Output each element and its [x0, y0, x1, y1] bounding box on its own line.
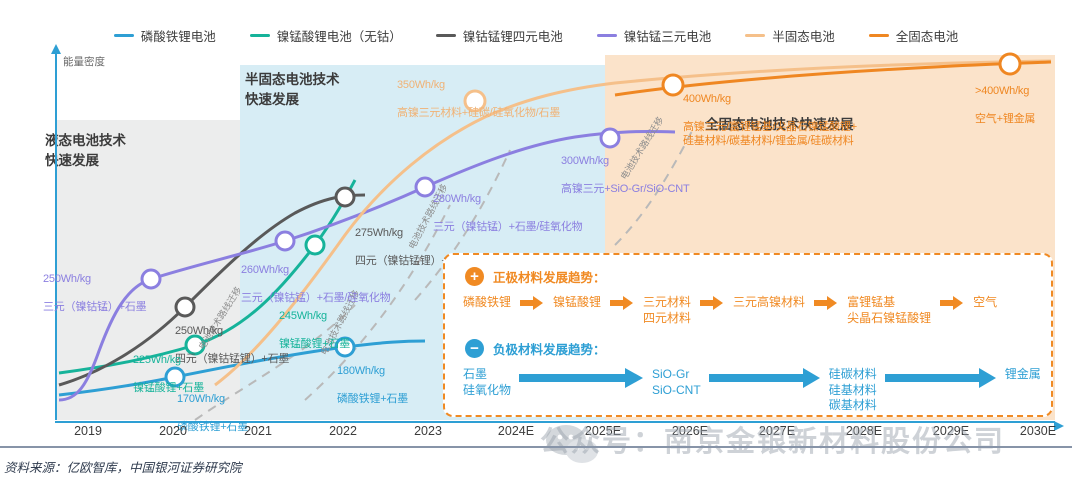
- marker-quad-275: [336, 188, 354, 206]
- x-tick-2023: 2023: [414, 424, 442, 438]
- x-tick-2019: 2019: [74, 424, 102, 438]
- y-axis-arrow-icon: [51, 44, 61, 54]
- legend-label: 镍锰酸锂电池（无钴）: [277, 26, 402, 45]
- legend-label: 镍钴锰三元电池: [624, 26, 712, 45]
- x-tick-2030E: 2030E: [1020, 424, 1056, 438]
- data-label-250-ncm: 250Wh/kg 三元（镍钴锰）+石墨: [43, 258, 146, 314]
- x-tick-2021: 2021: [244, 424, 272, 438]
- arrow-right-long-icon: [519, 370, 644, 386]
- x-tick-2024E: 2024E: [498, 424, 534, 438]
- cathode-chain-item-4: 富锂锰基 尖晶石镍锰酸锂: [847, 295, 931, 326]
- data-label-value: 250Wh/kg: [175, 325, 223, 337]
- data-label-180-lfp: 180Wh/kg 磷酸铁锂+石墨: [337, 350, 408, 406]
- cathode-chain-item-3: 三元高镍材料: [733, 295, 805, 311]
- x-tick-2022: 2022: [329, 424, 357, 438]
- legend-label: 全固态电池: [896, 26, 959, 45]
- data-label-material: 高镍三元/富锂锰基/尖晶石镍锰酸锂+ 硅基材料/碳基材料/锂金属/硅碳材料: [683, 121, 857, 147]
- legend-item-ncm[interactable]: 镍钴锰三元电池: [597, 26, 712, 45]
- chart-legend: 磷酸铁锂电池 镍锰酸锂电池（无钴） 镍钴锰锂四元电池 镍钴锰三元电池 半固态电池…: [0, 24, 1072, 46]
- data-label-material: 镍锰酸锂+石墨: [279, 338, 350, 350]
- data-label-material: 高镍三元+SiO-Gr/SiO-CNT: [561, 183, 690, 195]
- anode-trend-title: 负极材料发展趋势：: [493, 339, 606, 358]
- data-label-value: 170Wh/kg: [177, 393, 225, 405]
- data-label-value: 280Wh/kg: [433, 193, 481, 205]
- legend-item-quaternary[interactable]: 镍钴锰锂四元电池: [436, 26, 563, 45]
- cathode-chain: 磷酸铁锂 镍锰酸锂 三元材料 四元材料 三元高镍材料 富锂锰基 尖晶石镍锰酸锂 …: [463, 295, 997, 326]
- legend-label: 磷酸铁锂电池: [141, 26, 216, 45]
- anode-chain-item-0: 石墨 硅氧化物: [463, 367, 511, 398]
- data-label-material: 磷酸铁锂+石墨: [337, 393, 408, 405]
- arrow-right-icon: [700, 295, 724, 311]
- data-label-value: 400Wh/kg: [683, 93, 731, 105]
- data-label-material: 空气+锂金属: [975, 113, 1035, 125]
- plus-icon: +: [465, 267, 484, 286]
- cathode-chain-item-5: 空气: [973, 295, 997, 311]
- footer-divider: [0, 446, 1072, 448]
- data-label-value: 260Wh/kg: [241, 264, 289, 276]
- watermark-text: 公众号：南京金银新材料股份公司: [540, 418, 1005, 460]
- anode-chain: 石墨 硅氧化物 SiO-Gr SiO-CNT 硅碳材料 硅基材料 碳基材料 锂金…: [463, 367, 1041, 414]
- data-label-400-solid: 400Wh/kg 高镍三元/富锂锰基/尖晶石镍锰酸锂+ 硅基材料/碳基材料/锂金…: [683, 78, 857, 148]
- cathode-trend-title: 正极材料发展趋势：: [493, 267, 606, 286]
- anode-trend-header: − 负极材料发展趋势：: [465, 339, 606, 358]
- x-tick-2020: 2020: [159, 424, 187, 438]
- data-label-value: 275Wh/kg: [355, 227, 403, 239]
- anode-chain-item-3: 锂金属: [1005, 367, 1041, 383]
- data-label-350-semi: 350Wh/kg 高镍三元材料+硅碳/硅氧化物/石墨: [397, 64, 560, 120]
- arrow-right-long-icon: [885, 370, 997, 386]
- legend-swatch: [114, 34, 134, 37]
- arrow-right-icon: [520, 295, 544, 311]
- arrow-right-icon: [610, 295, 634, 311]
- data-label-value: 250Wh/kg: [43, 273, 91, 285]
- cathode-chain-item-1: 镍锰酸锂: [553, 295, 601, 311]
- data-label-material: 高镍三元材料+硅碳/硅氧化物/石墨: [397, 107, 560, 119]
- legend-item-lfp[interactable]: 磷酸铁锂电池: [114, 26, 216, 45]
- cathode-chain-item-2: 三元材料 四元材料: [643, 295, 691, 326]
- legend-label: 镍钴锰锂四元电池: [463, 26, 563, 45]
- data-label-material: 三元（镍钴锰）+石墨: [43, 301, 146, 313]
- legend-swatch: [597, 34, 617, 37]
- cathode-chain-item-0: 磷酸铁锂: [463, 295, 511, 311]
- materials-trend-box: + 正极材料发展趋势： 磷酸铁锂 镍锰酸锂 三元材料 四元材料 三元高镍材料 富…: [443, 253, 1053, 417]
- minus-icon: −: [465, 339, 484, 358]
- data-label-value: >400Wh/kg: [975, 85, 1029, 97]
- legend-item-all-solid[interactable]: 全固态电池: [869, 26, 959, 45]
- marker-solid-400: [663, 75, 683, 95]
- data-label-value: 350Wh/kg: [397, 79, 445, 91]
- cathode-trend-header: + 正极材料发展趋势：: [465, 267, 606, 286]
- arrow-right-icon: [814, 295, 838, 311]
- arrow-right-icon: [940, 295, 964, 311]
- arrow-right-long-icon: [709, 370, 821, 386]
- data-label-value: 300Wh/kg: [561, 155, 609, 167]
- data-label-material: 三元（镍钴锰）+石墨/硅氧化物: [433, 221, 582, 233]
- anode-chain-item-1: SiO-Gr SiO-CNT: [652, 367, 701, 398]
- legend-swatch: [869, 34, 889, 37]
- legend-swatch: [250, 34, 270, 37]
- data-label-value: 245Wh/kg: [279, 310, 327, 322]
- anode-chain-item-2: 硅碳材料 硅基材料 碳基材料: [829, 367, 877, 414]
- legend-item-semi-solid[interactable]: 半固态电池: [745, 26, 835, 45]
- data-label-400plus-solid: >400Wh/kg 空气+锂金属: [975, 70, 1035, 126]
- legend-label: 半固态电池: [772, 26, 835, 45]
- data-label-value: 180Wh/kg: [337, 365, 385, 377]
- legend-swatch: [436, 34, 456, 37]
- legend-item-lnmo[interactable]: 镍锰酸锂电池（无钴）: [250, 26, 402, 45]
- legend-swatch: [745, 34, 765, 37]
- chart-root: 磷酸铁锂电池 镍锰酸锂电池（无钴） 镍钴锰锂四元电池 镍钴锰三元电池 半固态电池…: [0, 0, 1072, 484]
- data-label-245-lnmo: 245Wh/kg 镍锰酸锂+石墨: [279, 295, 350, 351]
- data-label-300-ncm: 300Wh/kg 高镍三元+SiO-Gr/SiO-CNT: [561, 140, 690, 196]
- source-note: 资料来源：亿欧智库，中国银河证券研究院: [4, 457, 242, 476]
- data-label-value: 225Wh/kg: [133, 354, 181, 366]
- marker-ncm-260: [276, 232, 294, 250]
